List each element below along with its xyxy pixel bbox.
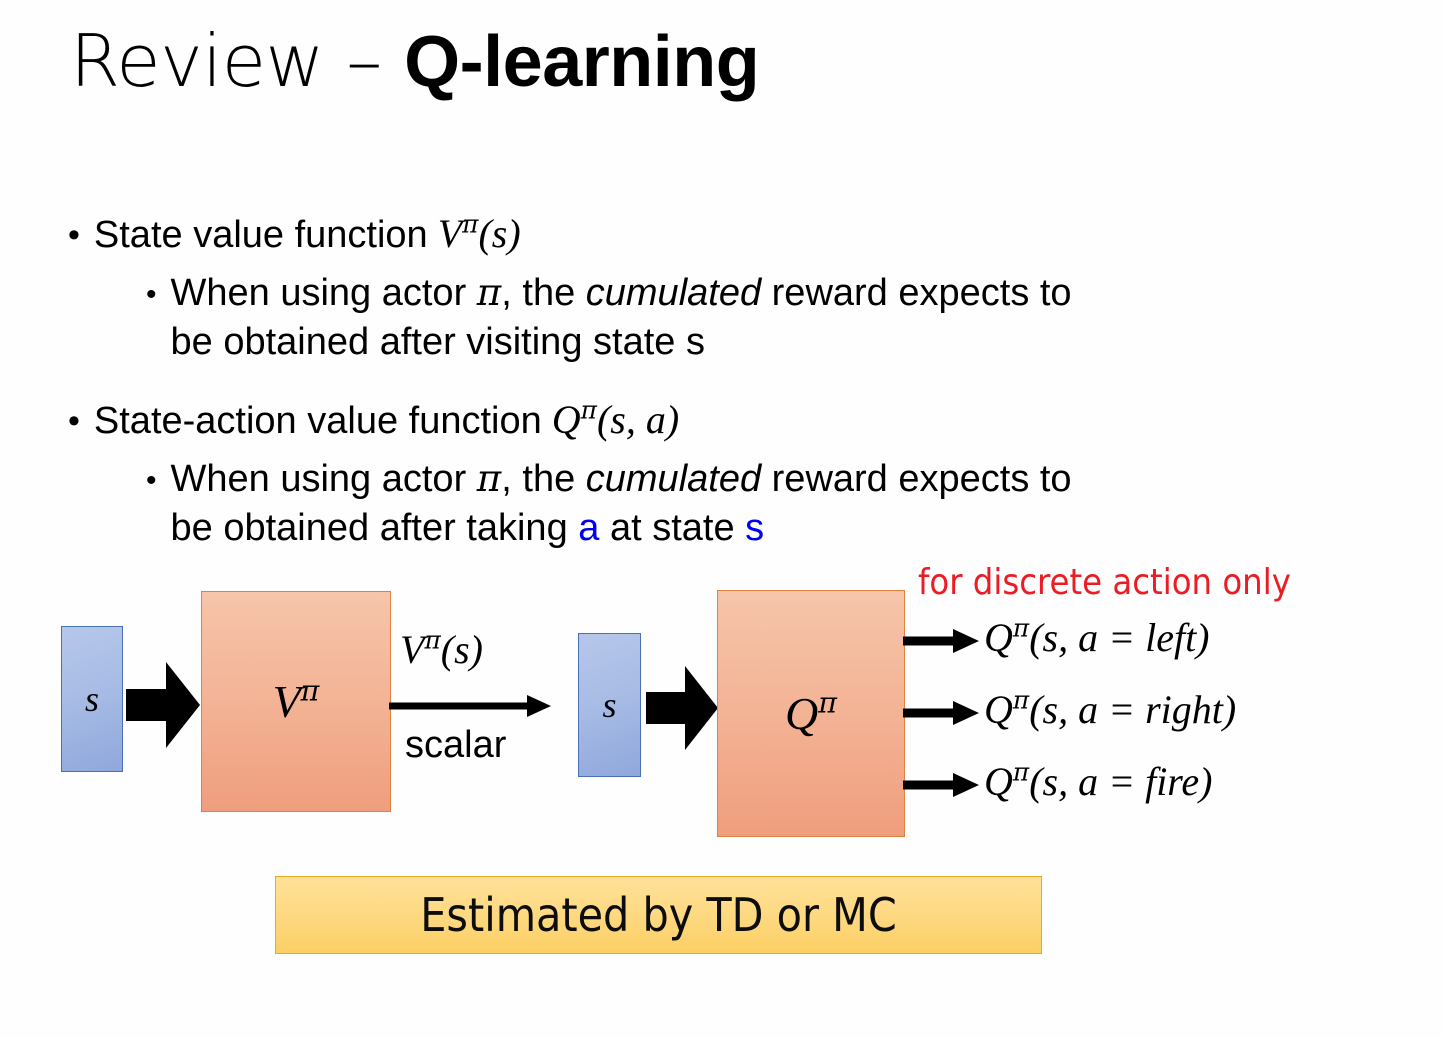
pi-symbol: π <box>477 270 501 314</box>
subbullet-text: When using actor π, the cumulated reward… <box>171 454 1072 554</box>
subbullet-line1-italic: cumulated <box>586 458 761 500</box>
action-variable-a: a <box>578 507 599 549</box>
v-output-label: Vπ(s) <box>400 626 483 673</box>
q-output-arrow-right-icon <box>903 700 979 726</box>
subbullet-q-description: • When using actor π, the cumulated rewa… <box>146 454 1266 554</box>
estimation-method-box: Estimated by TD or MC <box>275 876 1042 954</box>
v-output-arrow-icon <box>389 693 551 719</box>
math-q-pi-s-a: Qπ(s, a) <box>542 397 679 442</box>
v-input-state-box: s <box>61 626 123 772</box>
bullet-text: State-action value function Qπ(s, a) <box>94 394 679 446</box>
v-function-label: Vπ <box>273 675 320 728</box>
math-v-pi-s: Vπ(s) <box>428 211 521 256</box>
bullet-marker: • <box>68 218 80 252</box>
discrete-action-note: for discrete action only <box>918 562 1291 603</box>
page-title: Review – Q-learning <box>70 22 759 102</box>
subbullet-line1-italic: cumulated <box>586 272 761 314</box>
v-input-block-arrow-icon <box>126 662 200 748</box>
q-output-arrow-left-icon <box>903 628 979 654</box>
bullet-state-value-function: • State value function Vπ(s) <box>68 208 968 260</box>
subbullet-line1-c: reward expects to <box>761 272 1071 314</box>
bullet-label: State-action value function <box>94 400 542 442</box>
q-function-label: Qπ <box>785 687 837 740</box>
estimation-method-label: Estimated by TD or MC <box>420 888 896 942</box>
subbullet-line1-b: , the <box>501 272 586 314</box>
subbullet-line1-c: reward expects to <box>761 458 1071 500</box>
subbullet-line2: be obtained after visiting state s <box>171 321 705 363</box>
state-variable-s: s <box>745 507 764 549</box>
slide-canvas: Review – Q-learning • State value functi… <box>0 0 1442 1038</box>
v-input-state-label: s <box>85 678 99 720</box>
v-output-type-label: scalar <box>405 724 506 767</box>
subbullet-v-description: • When using actor π, the cumulated rewa… <box>146 268 1266 368</box>
subbullet-line1-a: When using actor <box>171 272 477 314</box>
q-function-box: Qπ <box>717 590 905 837</box>
subbullet-line1-b: , the <box>501 458 586 500</box>
title-emphasis: Q-learning <box>404 22 759 102</box>
subbullet-line2-b: at state <box>599 507 745 549</box>
bullet-marker: • <box>146 466 157 496</box>
bullet-label: State value function <box>94 214 428 256</box>
subbullet-line1-a: When using actor <box>171 458 477 500</box>
q-input-state-label: s <box>602 684 616 726</box>
v-function-box: Vπ <box>201 591 391 812</box>
title-prefix: Review – <box>70 19 404 103</box>
q-output-label-right: Qπ(s, a = right) <box>984 686 1236 733</box>
bullet-marker: • <box>146 280 157 310</box>
q-input-state-box: s <box>578 633 641 777</box>
bullet-text: State value function Vπ(s) <box>94 208 521 260</box>
q-output-label-left: Qπ(s, a = left) <box>984 614 1210 661</box>
subbullet-text: When using actor π, the cumulated reward… <box>171 268 1072 368</box>
q-output-label-fire: Qπ(s, a = fire) <box>984 758 1212 805</box>
bullet-marker: • <box>68 404 80 438</box>
q-output-arrow-fire-icon <box>903 772 979 798</box>
pi-symbol: π <box>477 456 501 500</box>
subbullet-line2-a: be obtained after taking <box>171 507 579 549</box>
q-input-block-arrow-icon <box>646 666 718 750</box>
bullet-state-action-value-function: • State-action value function Qπ(s, a) <box>68 394 1068 446</box>
